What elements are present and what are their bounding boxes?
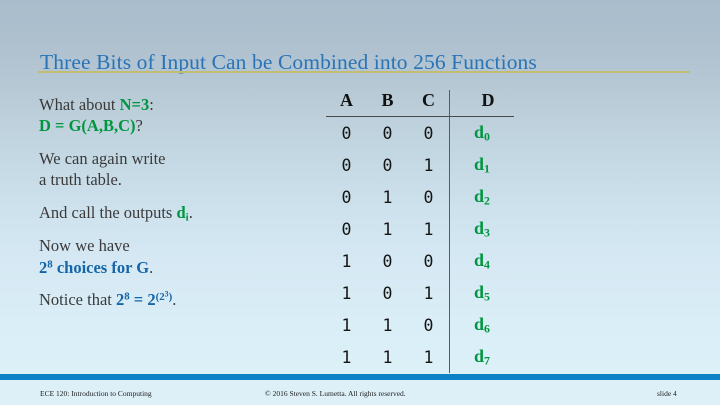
cell-b: 0 [367,277,408,309]
footer-course-label: ECE 120: Introduction to Computing [40,389,152,398]
truth-table-header-c: C [408,90,450,117]
table-row: 011d3 [326,213,514,245]
cell-a: 0 [326,117,367,150]
table-row: 111d7 [326,341,514,373]
superscript: (23) [156,291,173,303]
cell-a: 0 [326,213,367,245]
output-subscript: 4 [484,257,490,271]
cell-a: 0 [326,181,367,213]
table-row: 100d4 [326,245,514,277]
output-subscript: 7 [484,353,490,367]
cell-b: 0 [367,245,408,277]
footer-copyright-label: © 2016 Steven S. Lumetta. All rights res… [265,389,406,398]
paragraph-what-about: What about N=3:D = G(A,B,C)? [39,94,319,137]
truth-table-header-row: ABCD [326,90,514,117]
text-run: di [176,203,188,222]
footer-slide-number: slide 4 [657,389,677,398]
text-run: . [149,258,153,277]
cell-c: 0 [408,181,450,213]
table-row: 001d1 [326,149,514,181]
nested-superscript: 3 [165,289,169,298]
text-run: 28 [39,258,53,277]
cell-a: 1 [326,309,367,341]
text-run: We can again write [39,149,165,168]
cell-d: d6 [450,309,515,341]
paragraph-truth-table-note: We can again writea truth table. [39,148,319,191]
text-run: And call the outputs [39,203,176,222]
cell-b: 1 [367,181,408,213]
output-subscript: 5 [484,289,490,303]
output-value: d5 [474,282,490,302]
cell-a: 1 [326,277,367,309]
table-row: 101d5 [326,277,514,309]
paragraph-line: a truth table. [39,169,319,190]
body-text-column: What about N=3:D = G(A,B,C)?We can again… [39,94,319,322]
cell-a: 1 [326,245,367,277]
output-subscript: 6 [484,321,490,335]
table-row: 000d0 [326,117,514,150]
cell-d: d2 [450,181,515,213]
output-subscript: 1 [484,161,490,175]
cell-a: 0 [326,149,367,181]
cell-c: 1 [408,341,450,373]
slide-canvas: Three Bits of Input Can be Combined into… [0,0,720,405]
cell-b: 1 [367,341,408,373]
paragraph-choices: Now we have28 choices for G. [39,235,319,278]
table-row: 110d6 [326,309,514,341]
output-value: d6 [474,314,490,334]
paragraph-line: We can again write [39,148,319,169]
cell-b: 1 [367,213,408,245]
paragraph-line: 28 choices for G. [39,257,319,278]
truth-table: ABCD 000d0001d1010d2011d3100d4101d5110d6… [326,90,526,373]
cell-c: 1 [408,213,450,245]
output-value: d7 [474,346,490,366]
paragraph-line: Notice that 28 = 2(23). [39,289,319,310]
title-divider [38,71,690,73]
truth-table-body: 000d0001d1010d2011d3100d4101d5110d6111d7 [326,117,514,374]
cell-c: 0 [408,245,450,277]
output-subscript: 2 [484,193,490,207]
paragraph-line: And call the outputs di. [39,202,319,225]
truth-table-header-d: D [450,90,515,117]
text-run: : [149,95,154,114]
truth-table-grid: ABCD 000d0001d1010d2011d3100d4101d5110d6… [326,90,514,373]
paragraph-call-outputs: And call the outputs di. [39,202,319,225]
output-value: d2 [474,186,490,206]
cell-c: 0 [408,309,450,341]
output-subscript: 3 [484,225,490,239]
paragraph-line: What about N=3: [39,94,319,115]
cell-d: d5 [450,277,515,309]
text-run: = [130,290,148,309]
table-row: 010d2 [326,181,514,213]
text-run: 28 [116,290,130,309]
text-run: . [189,203,193,222]
paragraph-line: Now we have [39,235,319,256]
text-run: D = G(A,B,C) [39,116,135,135]
paragraph-line: D = G(A,B,C)? [39,115,319,136]
truth-table-header-b: B [367,90,408,117]
cell-d: d4 [450,245,515,277]
cell-d: d1 [450,149,515,181]
paragraph-notice: Notice that 28 = 2(23). [39,289,319,310]
text-run: N=3 [120,95,150,114]
cell-c: 1 [408,149,450,181]
cell-c: 0 [408,117,450,150]
cell-a: 1 [326,341,367,373]
text-run: ? [135,116,142,135]
cell-b: 0 [367,149,408,181]
truth-table-header-a: A [326,90,367,117]
cell-d: d7 [450,341,515,373]
cell-b: 1 [367,309,408,341]
text-run: choices for G [53,258,149,277]
text-run: What about [39,95,120,114]
output-value: d1 [474,154,490,174]
cell-b: 0 [367,117,408,150]
cell-d: d0 [450,117,515,150]
output-subscript: 0 [484,129,490,143]
output-value: d0 [474,122,490,142]
text-run: 2(23) [147,290,172,309]
text-run: Notice that [39,290,116,309]
text-run: a truth table. [39,170,122,189]
output-value: d3 [474,218,490,238]
cell-c: 1 [408,277,450,309]
cell-d: d3 [450,213,515,245]
text-run: Now we have [39,236,130,255]
text-run: . [172,290,176,309]
slide-footer: ECE 120: Introduction to Computing © 201… [0,380,720,405]
output-value: d4 [474,250,490,270]
